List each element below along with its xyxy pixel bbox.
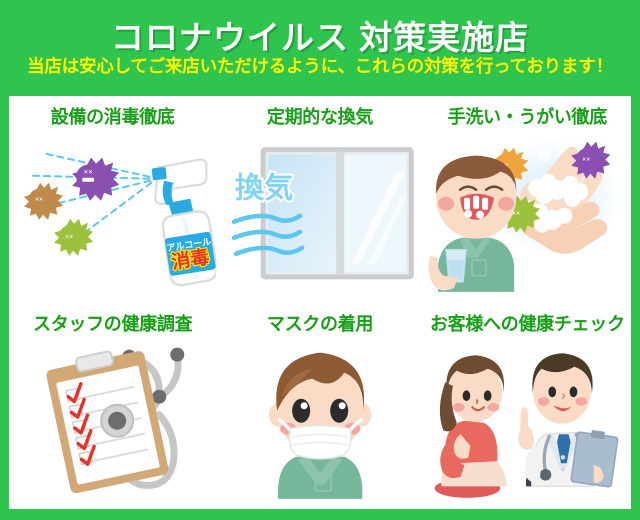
illustration-window-ventilation: 換気 xyxy=(216,126,423,303)
panel-title-disinfection: 設備の消毒徹底 xyxy=(51,108,175,126)
illustration-spray-bottle: ×× ×× ×× xyxy=(9,126,216,303)
panel-title-wear-mask: マスクの着用 xyxy=(267,315,373,333)
doctor-icon xyxy=(518,353,618,487)
woman-patient-icon xyxy=(434,355,506,498)
panel-disinfection: 設備の消毒徹底 ×× xyxy=(9,96,216,303)
germ-green-icon: ×× xyxy=(54,219,93,256)
poster-root: コロナウイルス 対策実施店 当店は安心してご来店いただけるように、これらの対策を… xyxy=(0,0,640,520)
illustration-clipboard-stethoscope xyxy=(9,333,216,510)
stethoscope-joint-icon xyxy=(152,389,166,403)
germ-purple-icon: ×× xyxy=(72,158,119,201)
panel-ventilation: 定期的な換気 xyxy=(216,96,423,303)
page-subtitle: 当店は安心してご来店いただけるように、これらの対策を行っております！ xyxy=(27,58,613,76)
svg-text:××: ×× xyxy=(65,234,73,241)
panel-staff-health-check: スタッフの健康調査 xyxy=(9,303,216,510)
panel-handwashing: 手洗い・うがい徹底 xyxy=(424,96,631,303)
panel-title-customer-health-check: お客様への健康チェック xyxy=(430,315,625,333)
panel-title-handwashing: 手洗い・うがい徹底 xyxy=(448,108,607,126)
germ-brown-icon: ×× xyxy=(24,183,63,220)
svg-text:××: ×× xyxy=(35,197,43,204)
window-icon xyxy=(263,150,411,277)
svg-text:××: ×× xyxy=(582,157,590,164)
illustration-person-with-mask xyxy=(216,333,423,510)
masked-person-icon xyxy=(269,352,371,498)
illustration-handwashing-gargling: ×× ×× ×× xyxy=(424,126,631,303)
panel-wear-mask: マスクの着用 xyxy=(216,303,423,510)
panel-customer-health-check: お客様への健康チェック xyxy=(424,303,631,510)
window-text-ventilation: 換気 xyxy=(235,172,293,205)
spray-bottle-icon: アルコール 消毒 xyxy=(152,160,217,286)
svg-text:××: ×× xyxy=(83,168,93,177)
gargling-person-icon xyxy=(428,156,516,292)
panel-title-staff-health-check: スタッフの健康調査 xyxy=(33,315,192,333)
page-title: コロナウイルス 対策実施店 xyxy=(111,21,529,54)
stethoscope-earpiece-icon xyxy=(170,347,184,361)
measures-grid: 設備の消毒徹底 ×× xyxy=(9,96,631,509)
panel-title-ventilation: 定期的な換気 xyxy=(267,108,373,126)
illustration-doctor-and-patient xyxy=(424,333,631,510)
poster-header: コロナウイルス 対策実施店 当店は安心してご来店いただけるように、これらの対策を… xyxy=(0,0,640,96)
